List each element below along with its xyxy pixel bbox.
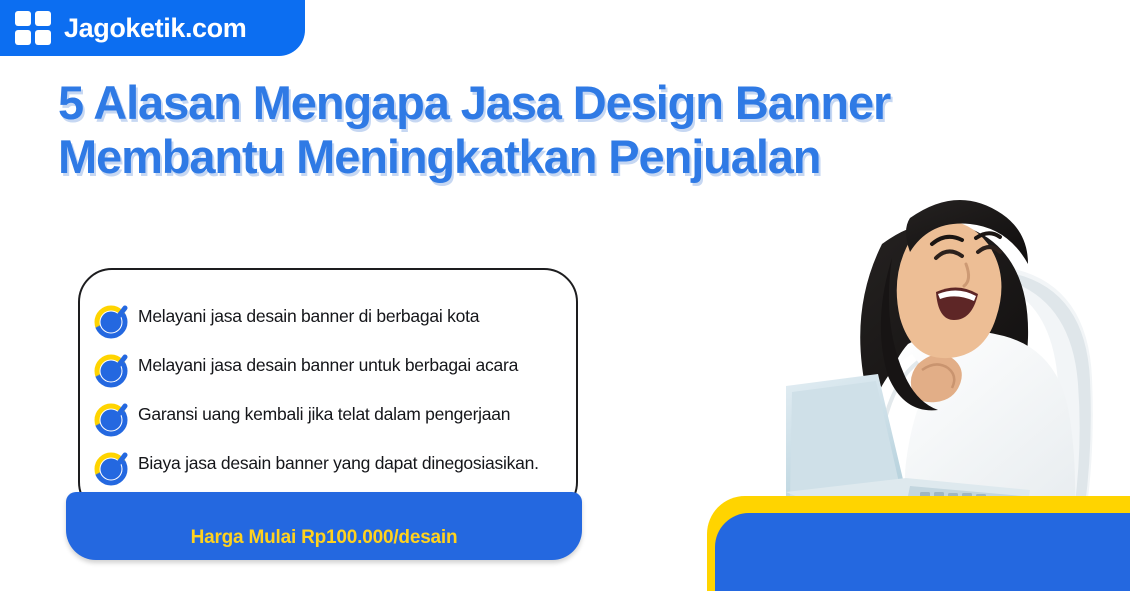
decorative-blue-block <box>715 513 1130 591</box>
brand-bar: Jagoketik.com <box>0 0 305 56</box>
check-circle-icon <box>92 350 132 390</box>
list-item: Biaya jasa desain banner yang dapat dine… <box>92 450 560 488</box>
list-item-label: Biaya jasa desain banner yang dapat dine… <box>138 450 539 474</box>
promotional-banner: Jagoketik.com 5 Alasan Mengapa Jasa Desi… <box>0 0 1130 591</box>
benefits-card: Melayani jasa desain banner di berbagai … <box>78 268 578 516</box>
list-item: Melayani jasa desain banner di berbagai … <box>92 303 560 341</box>
check-circle-icon <box>92 301 132 341</box>
price-bar: Harga Mulai Rp100.000/desain <box>66 492 582 560</box>
list-item: Garansi uang kembali jika telat dalam pe… <box>92 401 560 439</box>
list-item-label: Melayani jasa desain banner di berbagai … <box>138 303 479 327</box>
four-squares-grid-icon <box>15 11 51 45</box>
list-item: Melayani jasa desain banner untuk berbag… <box>92 352 560 390</box>
check-circle-icon <box>92 399 132 439</box>
check-circle-icon <box>92 448 132 488</box>
list-item-label: Garansi uang kembali jika telat dalam pe… <box>138 401 510 425</box>
woman-smiling-with-laptop-photo <box>760 148 1130 548</box>
price-label: Harga Mulai Rp100.000/desain <box>191 527 458 549</box>
brand-name: Jagoketik.com <box>64 13 246 44</box>
list-item-label: Melayani jasa desain banner untuk berbag… <box>138 352 518 376</box>
